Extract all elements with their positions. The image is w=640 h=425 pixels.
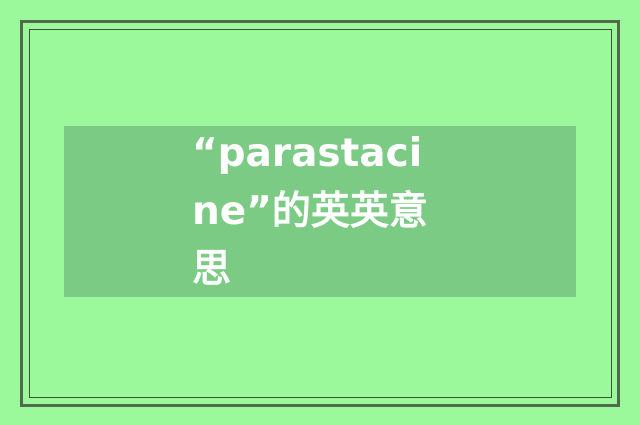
title-banner: “parastacine”的英英意思 <box>64 126 576 297</box>
banner-title-text: “parastacine”的英英意思 <box>192 125 448 299</box>
poster-card: “parastacine”的英英意思 <box>0 0 640 425</box>
